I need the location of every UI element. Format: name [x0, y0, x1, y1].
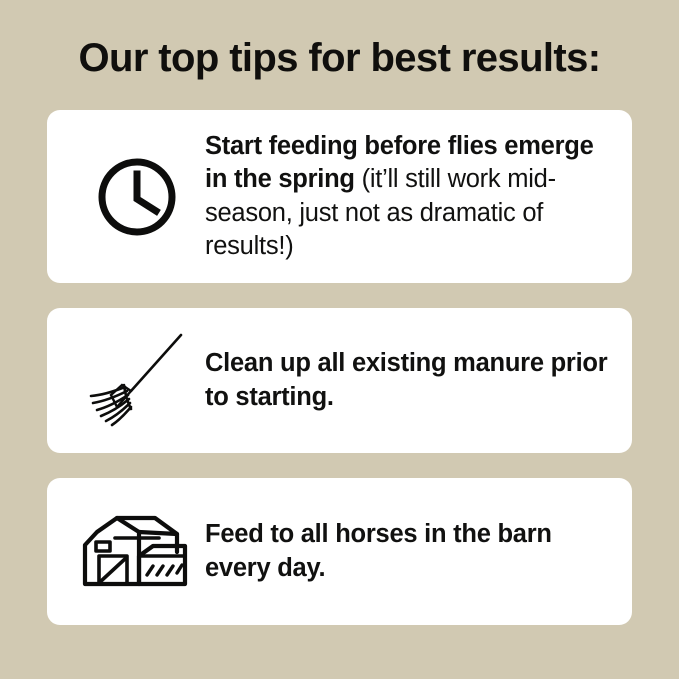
tip-2-icon-wrap	[69, 325, 205, 437]
rake-icon	[81, 325, 193, 437]
tip-2-text-bold: Clean up all existing manure prior to st…	[205, 349, 607, 411]
tip-3-icon-wrap	[69, 512, 205, 592]
tip-card-2: Clean up all existing manure prior to st…	[47, 308, 632, 453]
barn-icon	[81, 512, 193, 592]
clock-icon	[96, 156, 178, 238]
page-title: Our top tips for best results:	[0, 36, 679, 80]
tip-2-text: Clean up all existing manure prior to st…	[205, 347, 614, 414]
tips-list: Start feeding before flies emerge in the…	[47, 110, 632, 625]
tip-1-icon-wrap	[69, 156, 205, 238]
tip-3-text: Feed to all horses in the barn every day…	[205, 518, 614, 585]
tips-infographic: Our top tips for best results: Start fee…	[0, 0, 679, 679]
tip-card-1: Start feeding before flies emerge in the…	[47, 110, 632, 283]
tip-1-text: Start feeding before flies emerge in the…	[205, 130, 614, 264]
tip-card-3: Feed to all horses in the barn every day…	[47, 478, 632, 625]
tip-3-text-bold: Feed to all horses in the barn every day…	[205, 520, 552, 582]
